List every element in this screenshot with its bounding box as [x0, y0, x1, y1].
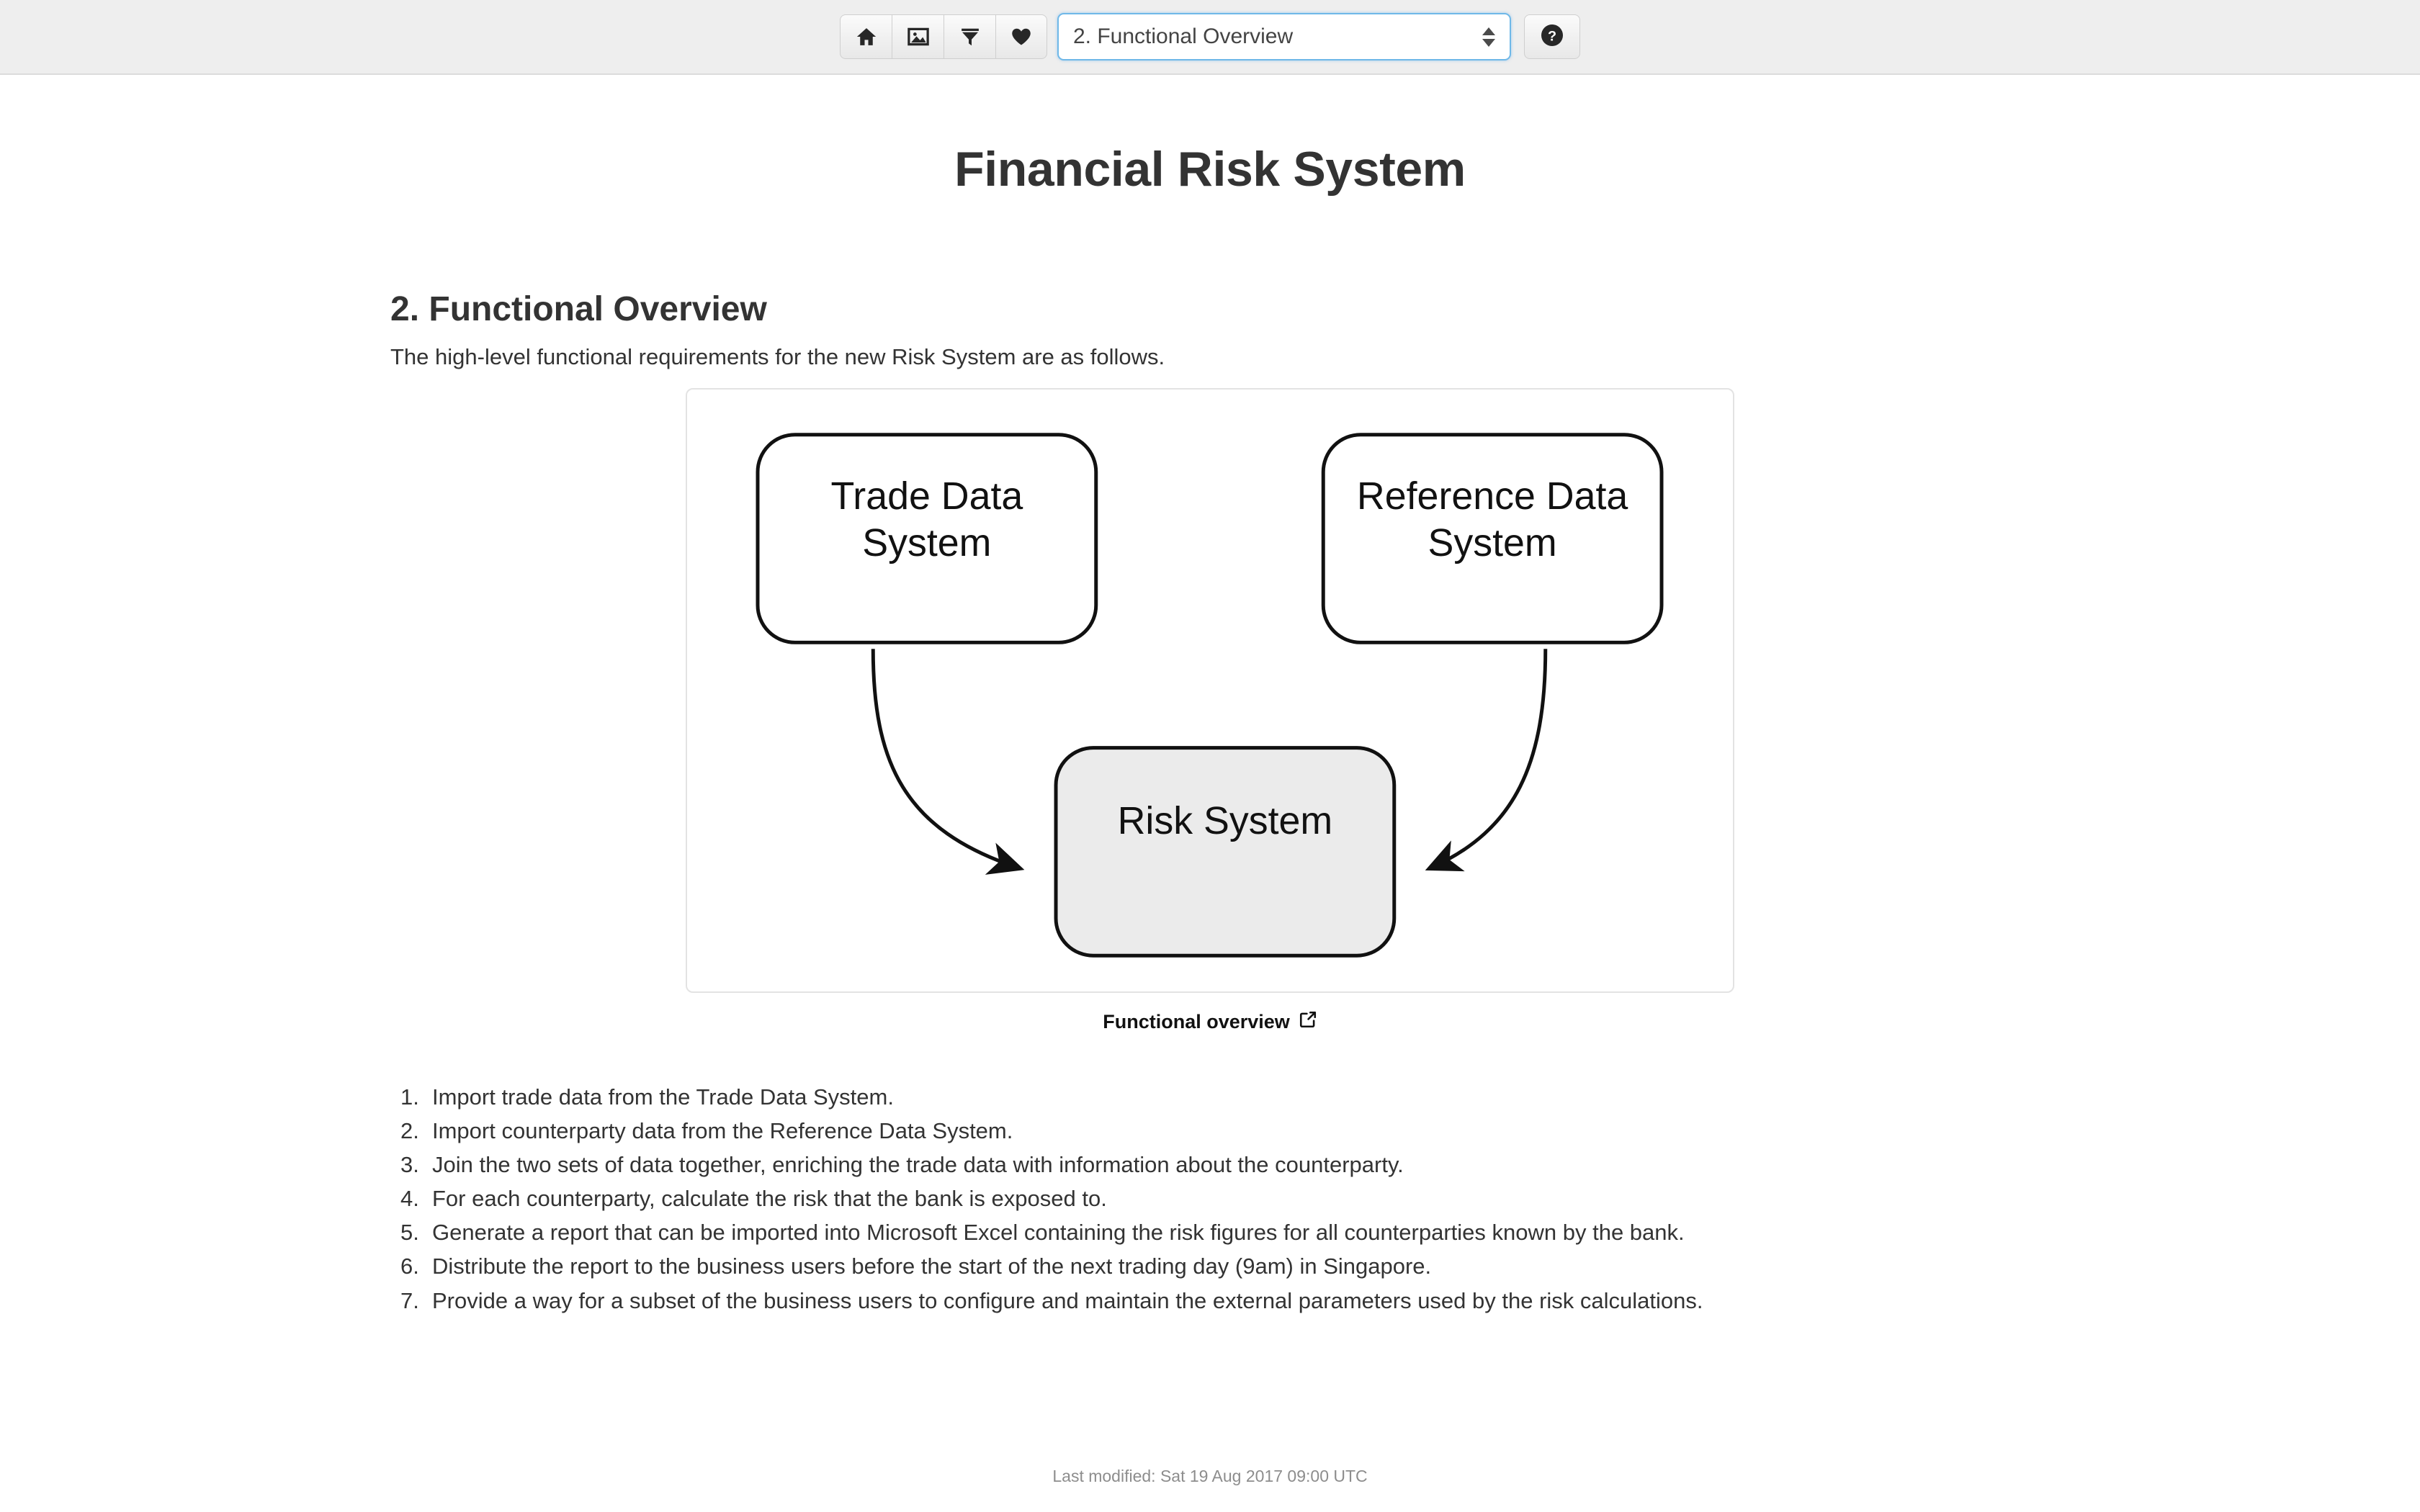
list-item: Generate a report that can be imported i… [400, 1215, 2045, 1249]
home-icon [856, 26, 877, 48]
document-page: Financial Risk System 2. Functional Over… [0, 75, 2420, 1318]
filter-icon [959, 26, 981, 48]
list-item: Distribute the report to the business us… [400, 1249, 2045, 1283]
edge-trade-to-risk [873, 649, 1019, 868]
node-risk-label-1: Risk System [1118, 799, 1333, 842]
list-item: For each counterparty, calculate the ris… [400, 1182, 2045, 1215]
home-button[interactable] [840, 14, 892, 59]
help-button[interactable]: ? [1524, 14, 1580, 59]
list-item: Import trade data from the Trade Data Sy… [400, 1080, 2045, 1114]
select-spinner-icon[interactable] [1482, 27, 1495, 47]
images-button[interactable] [892, 14, 944, 59]
page-title: Financial Risk System [0, 75, 2420, 197]
figure-caption-text: Functional overview [1103, 1011, 1290, 1033]
last-modified-footer: Last modified: Sat 19 Aug 2017 09:00 UTC [0, 1467, 2420, 1486]
image-icon [907, 26, 929, 48]
document-content: 2. Functional Overview The high-level fu… [375, 197, 2045, 1318]
top-toolbar: 2. Functional Overview ? [0, 0, 2420, 75]
toolbar-button-group [840, 14, 1047, 59]
figure-caption-link[interactable]: Functional overview [1103, 1010, 1317, 1034]
node-trade-data-system: Trade Data System [758, 435, 1096, 643]
heart-icon [1010, 26, 1032, 48]
node-reference-data-system: Reference Data System [1323, 435, 1662, 643]
list-item: Provide a way for a subset of the busine… [400, 1284, 2045, 1318]
figure-frame[interactable]: Trade Data System Reference Data System … [686, 388, 1734, 993]
filter-button[interactable] [944, 14, 995, 59]
edge-reference-to-risk [1430, 649, 1546, 868]
figure-functional-overview: Trade Data System Reference Data System … [375, 388, 2045, 1034]
toolbar-inner: 2. Functional Overview ? [840, 13, 1580, 60]
node-risk-system: Risk System [1056, 747, 1394, 955]
external-link-icon [1299, 1010, 1317, 1034]
node-trade-label-2: System [862, 521, 991, 564]
help-icon: ? [1540, 23, 1564, 51]
list-item: Import counterparty data from the Refere… [400, 1114, 2045, 1148]
favourites-button[interactable] [995, 14, 1047, 59]
requirements-list: Import trade data from the Trade Data Sy… [375, 1080, 2045, 1318]
node-trade-label-1: Trade Data [830, 474, 1023, 518]
node-reference-label-2: System [1428, 521, 1557, 564]
section-heading: 2. Functional Overview [375, 289, 2045, 329]
list-item: Join the two sets of data together, enri… [400, 1148, 2045, 1182]
section-intro: The high-level functional requirements f… [375, 342, 2045, 372]
section-select-value: 2. Functional Overview [1073, 24, 1482, 49]
section-select-wrapper: 2. Functional Overview [1057, 13, 1511, 60]
node-reference-label-1: Reference Data [1357, 474, 1628, 518]
section-select[interactable]: 2. Functional Overview [1057, 13, 1511, 60]
svg-text:?: ? [1548, 28, 1556, 44]
functional-overview-diagram: Trade Data System Reference Data System … [687, 390, 1733, 991]
